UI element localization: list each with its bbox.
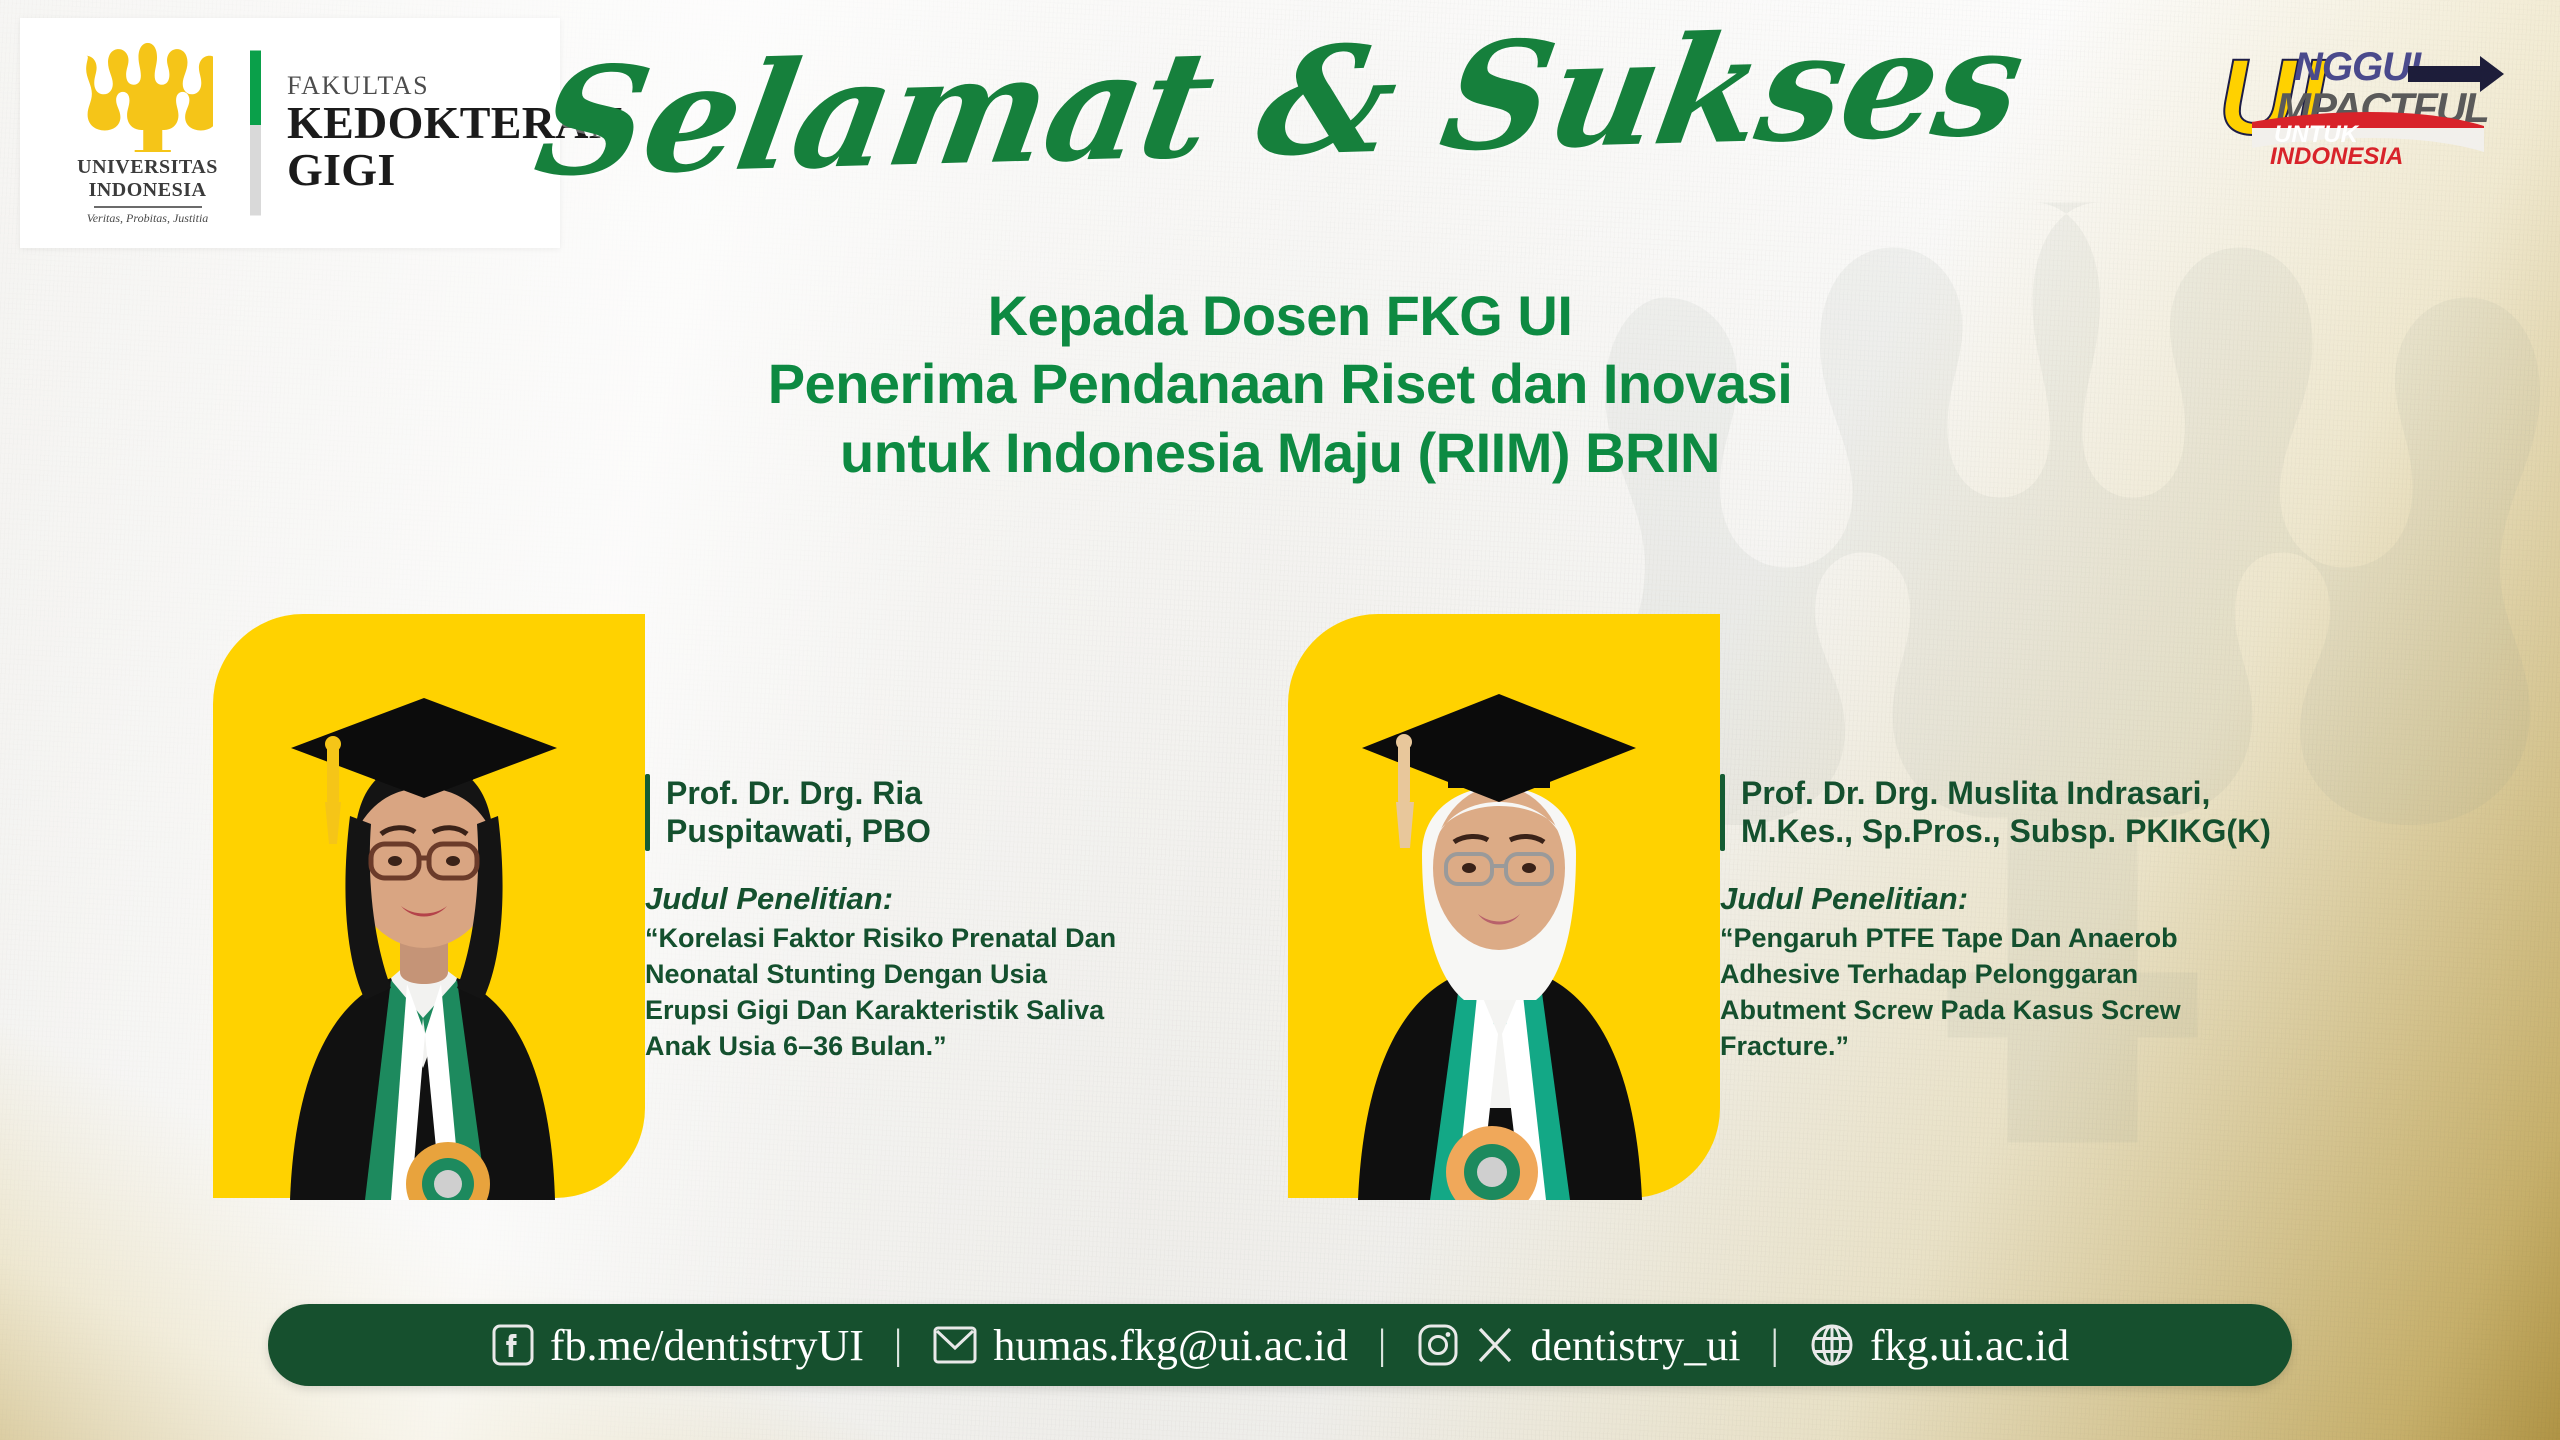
website-url: fkg.ui.ac.id xyxy=(1870,1320,2069,1371)
subtitle-line-1: Kepada Dosen FKG UI xyxy=(0,282,2560,350)
subtitle-line-3: untuk Indonesia Maju (RIIM) BRIN xyxy=(0,419,2560,487)
social-contact[interactable]: dentistry_ui xyxy=(1390,1320,1766,1371)
globe-icon xyxy=(1809,1322,1855,1368)
awardee-info: Prof. Dr. Drg. Muslita Indrasari, M.Kes.… xyxy=(1720,548,2340,1064)
envelope-icon xyxy=(932,1325,978,1365)
research-title-label: Judul Penelitian: xyxy=(1720,881,2340,917)
awardee-name-row: Prof. Dr. Drg. Ria Puspitawati, PBO xyxy=(645,774,1205,851)
awardee-name-row: Prof. Dr. Drg. Muslita Indrasari, M.Kes.… xyxy=(1720,774,2340,851)
email-address: humas.fkg@ui.ac.id xyxy=(993,1320,1348,1371)
awardee-portrait xyxy=(195,548,645,1200)
contact-separator: | xyxy=(1767,1321,1783,1369)
awardee-card: Prof. Dr. Drg. Ria Puspitawati, PBO Judu… xyxy=(195,548,1205,1198)
awardee-info: Prof. Dr. Drg. Ria Puspitawati, PBO Judu… xyxy=(645,548,1205,1064)
contact-bar: fb.me/dentistryUI | humas.fkg@ui.ac.id |… xyxy=(268,1304,2292,1386)
page-subtitle: Kepada Dosen FKG UI Penerima Pendanaan R… xyxy=(0,282,2560,487)
facebook-icon xyxy=(491,1323,535,1367)
awardee-photo-wrap xyxy=(195,548,645,1198)
research-title-text: “Pengaruh PTFE Tape Dan Anaerob Adhesive… xyxy=(1720,921,2340,1065)
awardee-name: Prof. Dr. Drg. Ria Puspitawati, PBO xyxy=(666,774,931,851)
research-title-label: Judul Penelitian: xyxy=(645,881,1205,917)
facebook-contact[interactable]: fb.me/dentistryUI xyxy=(465,1320,890,1371)
x-twitter-icon xyxy=(1475,1325,1515,1365)
contact-separator: | xyxy=(1374,1321,1390,1369)
awardee-portrait xyxy=(1270,548,1720,1200)
contact-separator: | xyxy=(890,1321,906,1369)
research-title-text: “Korelasi Faktor Risiko Prenatal Dan Neo… xyxy=(645,921,1205,1065)
awardee-name: Prof. Dr. Drg. Muslita Indrasari, M.Kes.… xyxy=(1741,774,2271,851)
subtitle-line-2: Penerima Pendanaan Riset dan Inovasi xyxy=(0,350,2560,418)
email-contact[interactable]: humas.fkg@ui.ac.id xyxy=(906,1320,1374,1371)
website-contact[interactable]: fkg.ui.ac.id xyxy=(1783,1320,2095,1371)
social-handle: dentistry_ui xyxy=(1530,1320,1740,1371)
awardee-card: Prof. Dr. Drg. Muslita Indrasari, M.Kes.… xyxy=(1270,548,2340,1198)
university-motto: Veritas, Probitas, Justitia xyxy=(87,211,209,226)
poster-canvas: UNIVERSITAS INDONESIA Veritas, Probitas,… xyxy=(0,0,2560,1440)
instagram-icon xyxy=(1416,1323,1460,1367)
facebook-handle: fb.me/dentistryUI xyxy=(550,1320,864,1371)
awardee-photo-wrap xyxy=(1270,548,1720,1198)
name-accent-bar xyxy=(1720,774,1725,851)
name-accent-bar xyxy=(645,774,650,851)
